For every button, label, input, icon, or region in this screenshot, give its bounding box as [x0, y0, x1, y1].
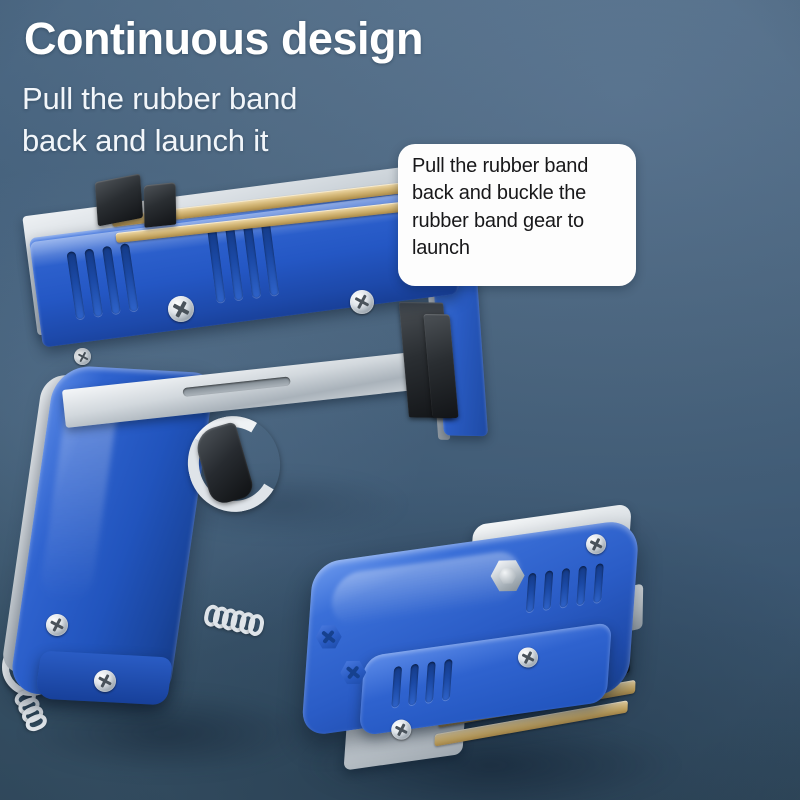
keychain-links-left: [15, 692, 50, 734]
folded-body-highlight: [330, 548, 522, 627]
folded-rubber-band-gun: [294, 509, 699, 800]
slide-vents-front: [66, 243, 138, 319]
page-subtitle: Pull the rubber band back and launch it: [22, 78, 297, 161]
grip-screw-bottom: [94, 670, 116, 692]
rail-slot: [182, 376, 290, 397]
slide-screw-front: [350, 290, 374, 314]
product-marketing-image: Continuous design Pull the rubber band b…: [0, 0, 800, 800]
slide-screw-rear: [168, 296, 194, 322]
hammer-right: [144, 182, 177, 227]
grip-screw-lower: [46, 614, 68, 636]
grip-screw-upper: [74, 348, 91, 365]
slide-vents-rear: [207, 221, 279, 302]
folded-vents-lower: [391, 659, 452, 708]
callout-text: Pull the rubber band back and buckle the…: [412, 153, 628, 263]
callout-bubble: Pull the rubber band back and buckle the…: [398, 144, 636, 286]
hammer-left: [95, 174, 143, 227]
page-title: Continuous design: [24, 14, 423, 64]
